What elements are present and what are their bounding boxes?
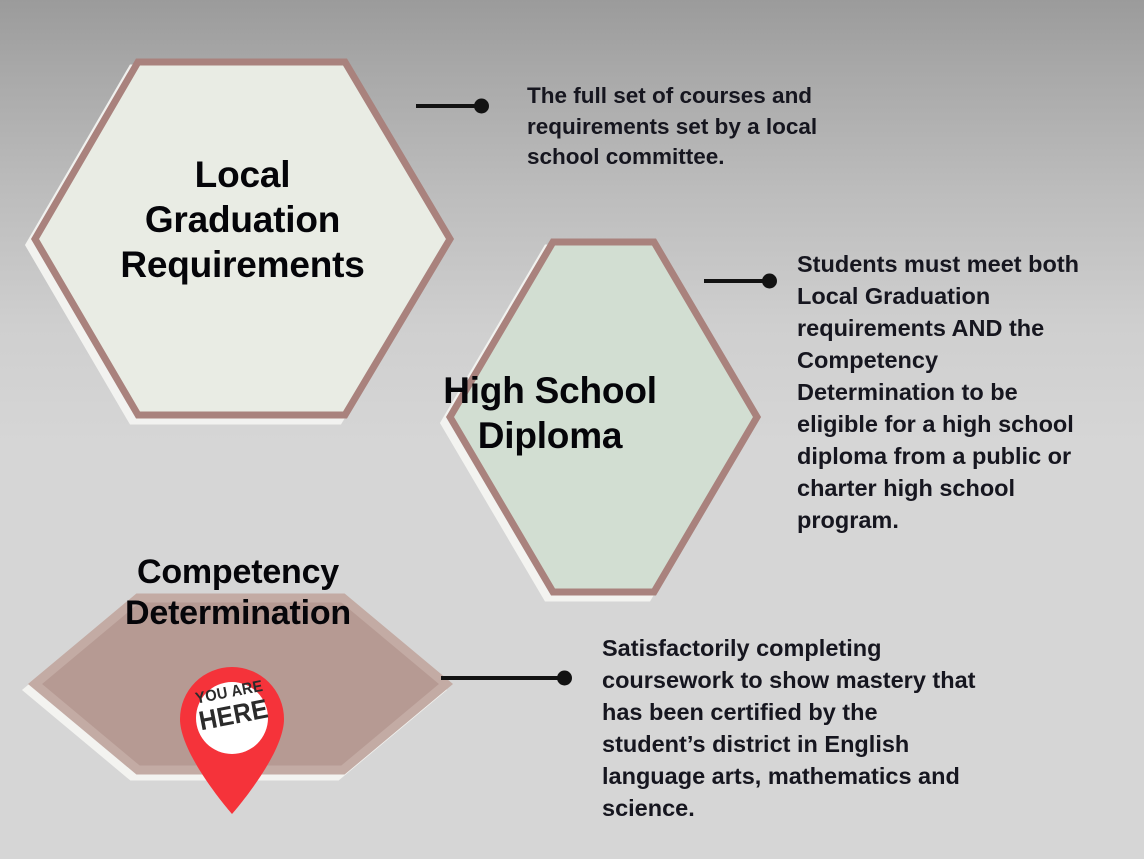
infographic-canvas: Local Graduation Requirements High Schoo…: [0, 0, 1144, 859]
connector-line-local-graduation: [416, 104, 484, 108]
callout-high-school-diploma: Students must meet both Local Graduation…: [797, 249, 1127, 537]
connector-line-high-school-diploma: [704, 279, 772, 283]
map-marker-icon: [176, 663, 288, 815]
hexagon-local-graduation-requirements[interactable]: [35, 62, 450, 415]
callout-local-graduation: The full set of courses and requirements…: [527, 81, 857, 173]
you-are-here-pin[interactable]: YOU ARE HERE: [176, 663, 288, 815]
callout-competency-determination: Satisfactorily completing coursework to …: [602, 633, 1012, 825]
hexagon-high-school-diploma[interactable]: [450, 242, 757, 592]
connector-line-competency-determination: [441, 676, 567, 680]
